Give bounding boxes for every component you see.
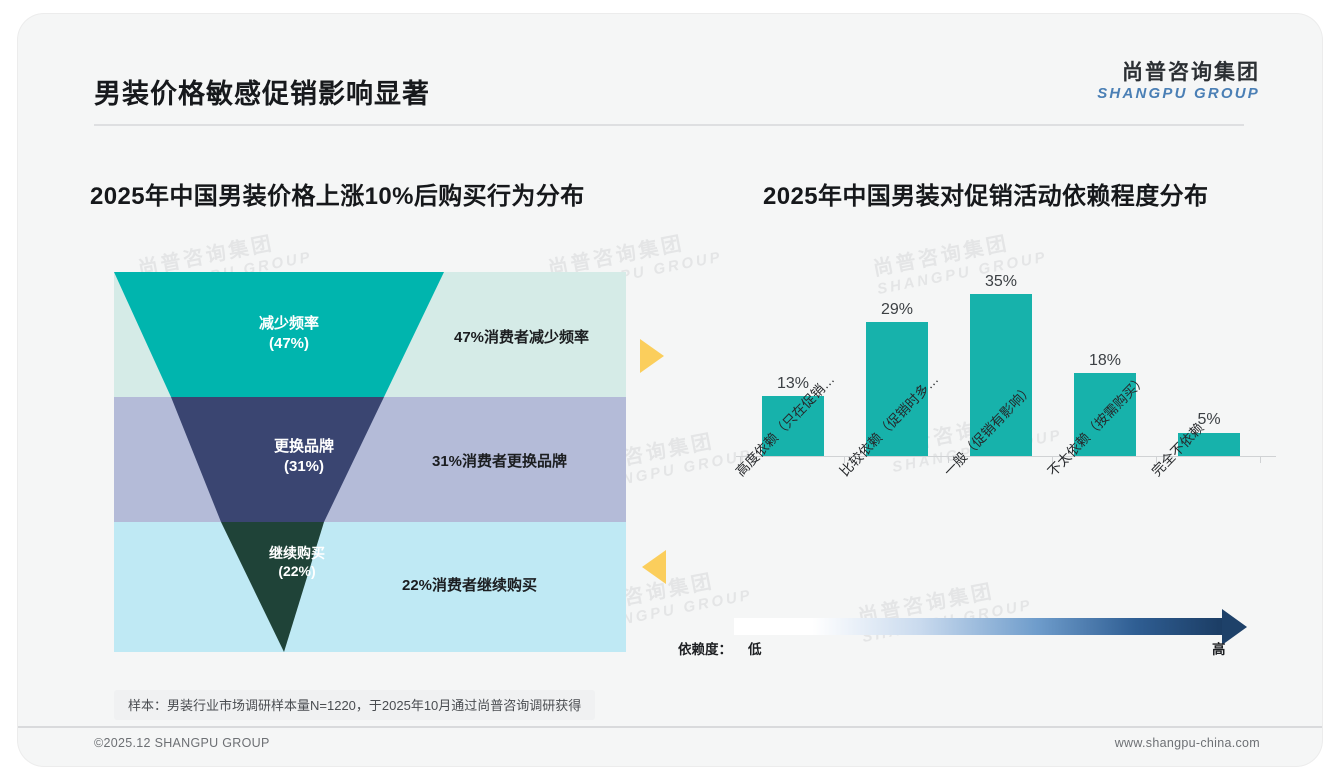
funnel-segment-label-3: 继续购买 (22%) — [232, 544, 362, 581]
legend-gradient-bar — [734, 618, 1224, 635]
funnel-label-text-1: 减少频率 — [259, 315, 319, 332]
legend-low-label: 低 — [748, 638, 762, 658]
bar-value-4: 18% — [1060, 352, 1150, 370]
footer-website[interactable]: www.shangpu-china.com — [1115, 736, 1260, 750]
funnel-note-3: 22%消费者继续购买 — [402, 574, 537, 595]
footer-copyright: ©2025.12 SHANGPU GROUP — [94, 736, 270, 750]
header-divider — [94, 124, 1244, 126]
funnel-label-value-2: (31%) — [284, 458, 324, 475]
legend-title: 依赖度： — [678, 638, 732, 658]
brand-logo: 尚普咨询集团 SHANGPU GROUP — [1097, 62, 1260, 102]
funnel-label-text-3: 继续购买 — [269, 545, 325, 561]
legend-arrow-icon — [1222, 609, 1247, 645]
logo-text-en: SHANGPU GROUP — [1097, 86, 1260, 102]
legend-high-label: 高 — [1212, 638, 1226, 658]
logo-text-cn: 尚普咨询集团 — [1097, 62, 1260, 85]
right-chart-title: 2025年中国男装对促销活动依赖程度分布 — [763, 176, 1208, 211]
bar-value-5: 5% — [1164, 411, 1254, 429]
funnel-segment-label-2: 更换品牌 (31%) — [214, 437, 394, 477]
funnel-note-1: 47%消费者减少频率 — [454, 326, 589, 347]
axis-tick — [1260, 457, 1261, 463]
bar-chart-axis — [736, 456, 1276, 457]
bar-value-2: 29% — [852, 301, 942, 319]
slide-header: 男装价格敏感促销影响显著 尚普咨询集团 SHANGPU GROUP — [18, 14, 1322, 118]
bar-value-3: 35% — [956, 273, 1046, 291]
left-chart-title: 2025年中国男装价格上涨10%后购买行为分布 — [90, 176, 585, 211]
funnel-segment-label-1: 减少频率 (47%) — [174, 314, 404, 354]
funnel-chart: 减少频率 (47%) 更换品牌 (31%) 继续购买 (22%) 47%消费者减… — [114, 272, 626, 652]
funnel-segment-3 — [221, 522, 324, 652]
footer-divider — [18, 726, 1322, 728]
dependency-gradient-legend: 依赖度： 低 高 — [678, 610, 1278, 666]
funnel-label-value-1: (47%) — [269, 335, 309, 352]
slide-card: 尚普咨询集团 SHANGPU GROUP 尚普咨询集团 SHANGPU GROU… — [18, 14, 1322, 766]
funnel-note-2: 31%消费者更换品牌 — [432, 450, 567, 471]
funnel-label-value-3: (22%) — [278, 563, 315, 579]
page-title: 男装价格敏感促销影响显著 — [94, 72, 430, 111]
right-triangle-marker-icon — [640, 339, 664, 373]
sample-note: 样本：男装行业市场调研样本量N=1220，于2025年10月通过尚普咨询调研获得 — [114, 690, 595, 720]
funnel-label-text-2: 更换品牌 — [274, 438, 334, 455]
left-triangle-marker-icon — [642, 550, 666, 584]
slide-root: 尚普咨询集团 SHANGPU GROUP 尚普咨询集团 SHANGPU GROU… — [0, 0, 1340, 780]
